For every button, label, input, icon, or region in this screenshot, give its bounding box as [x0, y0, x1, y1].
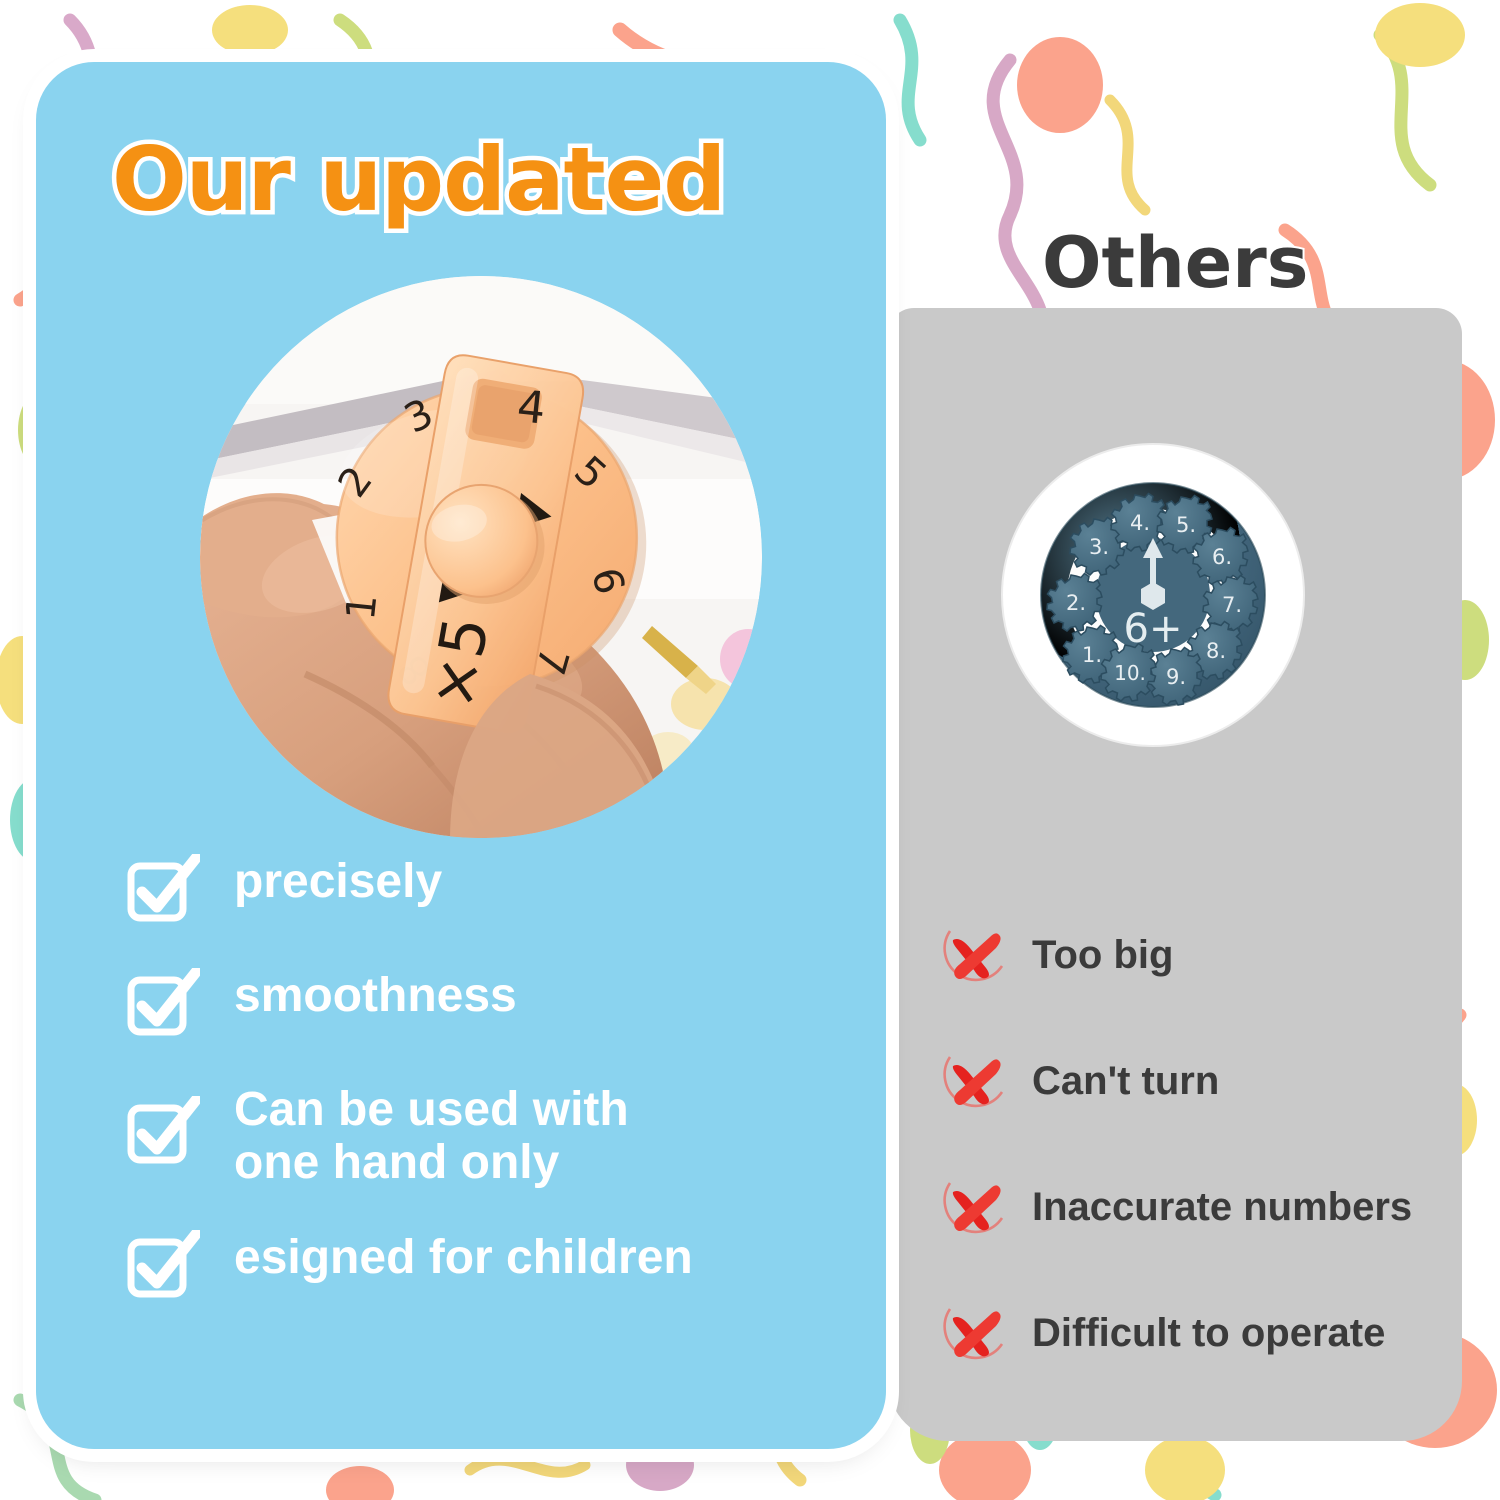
- con-label: Too big: [1032, 933, 1173, 977]
- svg-text:4: 4: [515, 381, 548, 435]
- con-item-difficult-to-operate: Difficult to operate: [940, 1296, 1470, 1370]
- svg-text:3.: 3.: [1089, 535, 1109, 559]
- checkbox-checked-icon: [126, 854, 200, 928]
- svg-text:5.: 5.: [1176, 513, 1196, 537]
- svg-text:6+: 6+: [1124, 606, 1183, 652]
- feature-label: Can be used with one hand only: [234, 1080, 629, 1190]
- feature-item-smoothness: smoothness: [126, 966, 866, 1042]
- svg-text:×5: ×5: [415, 611, 503, 714]
- page-title-others: Others: [1042, 222, 1308, 304]
- feature-checklist: precisely smoothness Can be used with on…: [126, 852, 866, 1304]
- product-photo-hand-holding-row-counter: 1 2 3 4 5 6 7 8: [200, 274, 762, 840]
- svg-text:9.: 9.: [1166, 665, 1186, 689]
- cross-red-icon: [940, 1044, 1014, 1118]
- checkbox-checked-icon: [126, 1230, 200, 1304]
- page-title-our-updated: Our updated: [112, 128, 725, 231]
- checkbox-checked-icon: [126, 1096, 200, 1170]
- competitor-photo-gear-row-counter: 1. 2. 3. 4. 5. 6. 7. 8. 9. 10.: [1000, 442, 1306, 748]
- feature-item-one-hand: Can be used with one hand only: [126, 1080, 866, 1190]
- cross-red-icon: [940, 918, 1014, 992]
- svg-text:6.: 6.: [1212, 545, 1232, 569]
- svg-text:4.: 4.: [1130, 511, 1150, 535]
- con-label: Can't turn: [1032, 1059, 1219, 1103]
- cross-red-icon: [940, 1296, 1014, 1370]
- svg-text:7.: 7.: [1222, 593, 1242, 617]
- cons-list: Too big Can't turn Inaccurate numbers Di…: [940, 918, 1470, 1370]
- svg-text:8.: 8.: [1206, 639, 1226, 663]
- con-item-cant-turn: Can't turn: [940, 1044, 1470, 1118]
- feature-item-designed-for-children: esigned for children: [126, 1228, 866, 1304]
- con-label: Difficult to operate: [1032, 1311, 1385, 1355]
- svg-text:2.: 2.: [1066, 591, 1086, 615]
- feature-label: precisely: [234, 852, 442, 909]
- svg-text:1: 1: [338, 592, 386, 622]
- feature-item-precisely: precisely: [126, 852, 866, 928]
- feature-label: smoothness: [234, 966, 517, 1023]
- checkbox-checked-icon: [126, 968, 200, 1042]
- con-label: Inaccurate numbers: [1032, 1185, 1412, 1229]
- con-item-inaccurate-numbers: Inaccurate numbers: [940, 1170, 1470, 1244]
- svg-text:10.: 10.: [1114, 661, 1146, 685]
- feature-label: esigned for children: [234, 1228, 693, 1285]
- svg-text:1.: 1.: [1082, 643, 1102, 667]
- con-item-too-big: Too big: [940, 918, 1470, 992]
- cross-red-icon: [940, 1170, 1014, 1244]
